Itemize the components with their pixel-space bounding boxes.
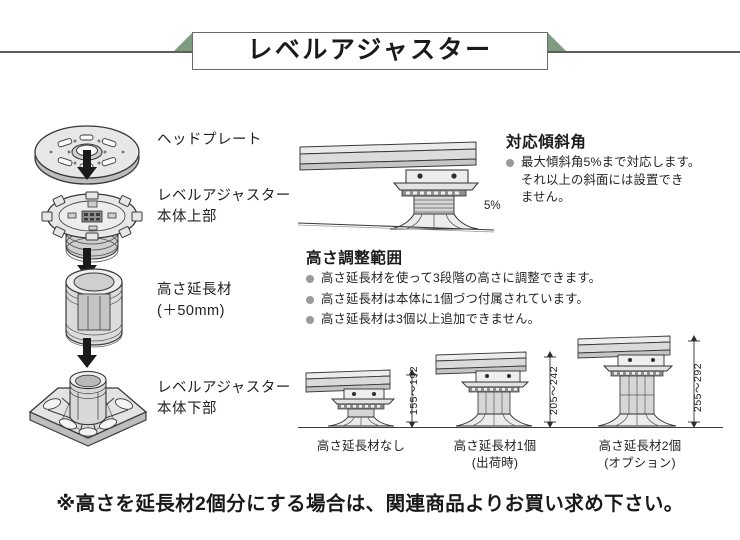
footnote-text: ※高さを延長材2個分にする場合は、関連商品よりお買い求め下さい。 [0,487,740,516]
bullet-text: 高さ延長材を使って3段階の高さに調整できます。 [321,271,601,285]
bullet-dot-icon [506,159,514,167]
bullet-dot-icon [306,296,314,304]
variant-caption-1: 高さ延長材1個 (出荷時) [430,438,560,472]
part-label-head-plate: ヘッドプレート [157,130,262,151]
list-item: 高さ延長材を使って3段階の高さに調整できます。 [306,270,636,288]
variant-caption-2: 高さ延長材2個 (オプション) [570,438,710,472]
bullet-text: 最大傾斜角5%まで対応します。 それ以上の斜面には設置でき ません。 [521,155,700,204]
down-arrow-icon [74,150,100,180]
bullet-dot-icon [306,275,314,283]
banner-triangle-right-icon [547,32,566,51]
part-label-extension: 高さ延長材 (＋50mm) [157,280,232,322]
variant-caption-0: 高さ延長材なし [296,438,426,455]
extension-cylinder-icon [48,268,140,348]
dimension-label-1: 205〜242 [546,366,561,415]
slope-section-heading: 対応傾斜角 [506,130,587,152]
slope-bullet-list: 最大傾斜角5%まで対応します。 それ以上の斜面には設置でき ません。 [506,154,738,210]
product-spec-sheet: レベルアジャスター [0,0,740,540]
dimension-label-0: 155〜192 [406,366,421,415]
range-section-heading: 高さ調整範囲 [306,246,403,268]
bullet-dot-icon [306,316,314,324]
part-label-lower-body: レベルアジャスター 本体下部 [157,378,291,420]
slope-installation-diagram [298,125,508,235]
list-item: 最大傾斜角5%まで対応します。 それ以上の斜面には設置でき ません。 [506,154,738,207]
list-item: 高さ延長材は本体に1個づつ付属されています。 [306,291,636,309]
slope-percentage-label: 5% [484,200,501,212]
base-flange-icon [18,358,158,450]
bullet-text: 高さ延長材は本体に1個づつ付属されています。 [321,292,589,306]
dimension-label-2: 255〜292 [690,363,705,412]
exploded-parts-column: ヘッドプレート レベルアジャスター 本体上部 高さ延長材 (＋50mm) レベル… [0,0,300,540]
part-label-upper-body: レベルアジャスター 本体上部 [157,186,291,228]
